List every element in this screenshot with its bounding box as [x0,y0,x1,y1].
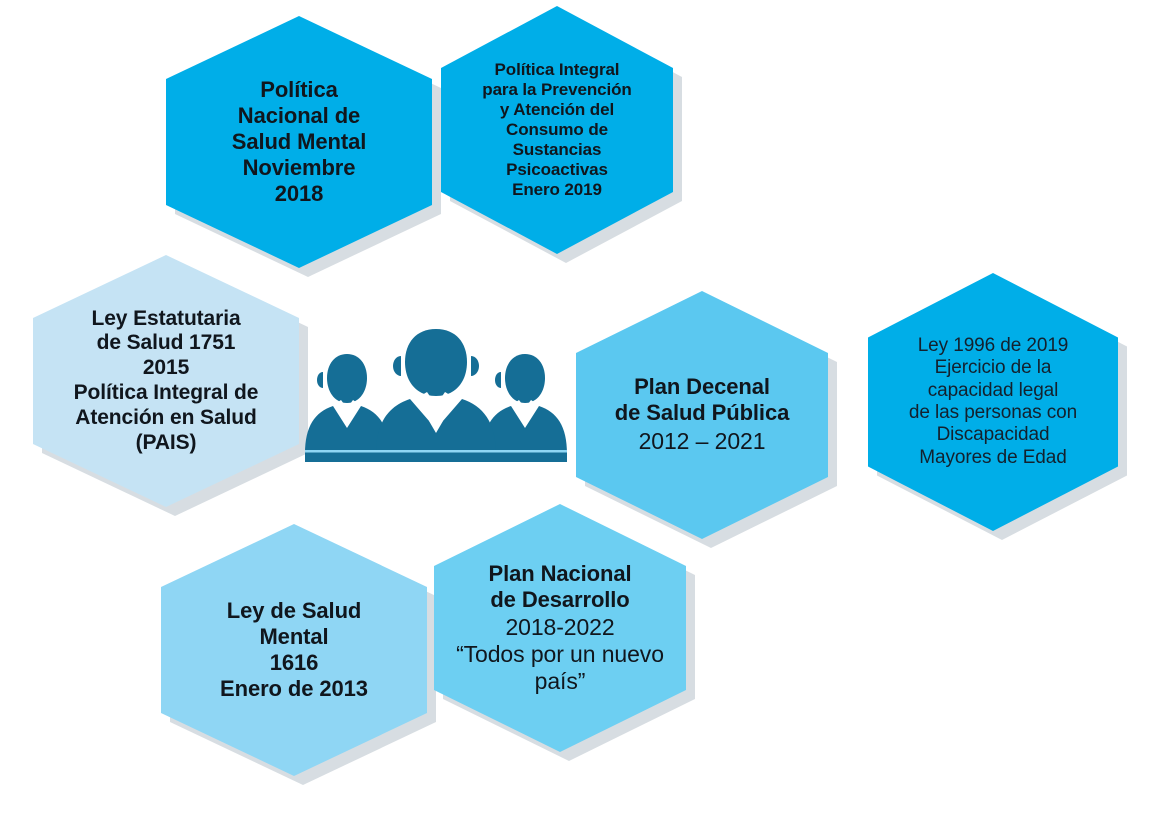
hex-label-politica-nacional-salud-mental: Política Nacional de Salud Mental Noviem… [226,77,373,207]
hex-label-plan-decenal-salud-publica: Plan Decenal de Salud Pública [609,374,795,426]
hex-sublabel-plan-nacional-desarrollo: 2018-2022 “Todos por un nuevo país” [450,614,670,695]
hex-label-politica-integral-sustancias-psicoactivas: Política Integral para la Prevención y A… [476,60,637,200]
three-people-group-icon [305,322,567,462]
hex-label-ley-de-salud-mental-1616: Ley de Salud Mental 1616 Enero de 2013 [214,598,374,702]
hex-label-ley-estatutaria-salud-1751: Ley Estatutaria de Salud 1751 2015 Polít… [68,307,265,456]
hex-label-ley-1996-de-2019: Ley 1996 de 2019 Ejercicio de la capacid… [903,335,1083,469]
hex-label-plan-nacional-desarrollo: Plan Nacional de Desarrollo [483,561,638,613]
hexagon-cluster-diagram: Política Nacional de Salud Mental Noviem… [0,0,1173,820]
hex-sublabel-plan-decenal-salud-publica: 2012 – 2021 [633,428,772,455]
